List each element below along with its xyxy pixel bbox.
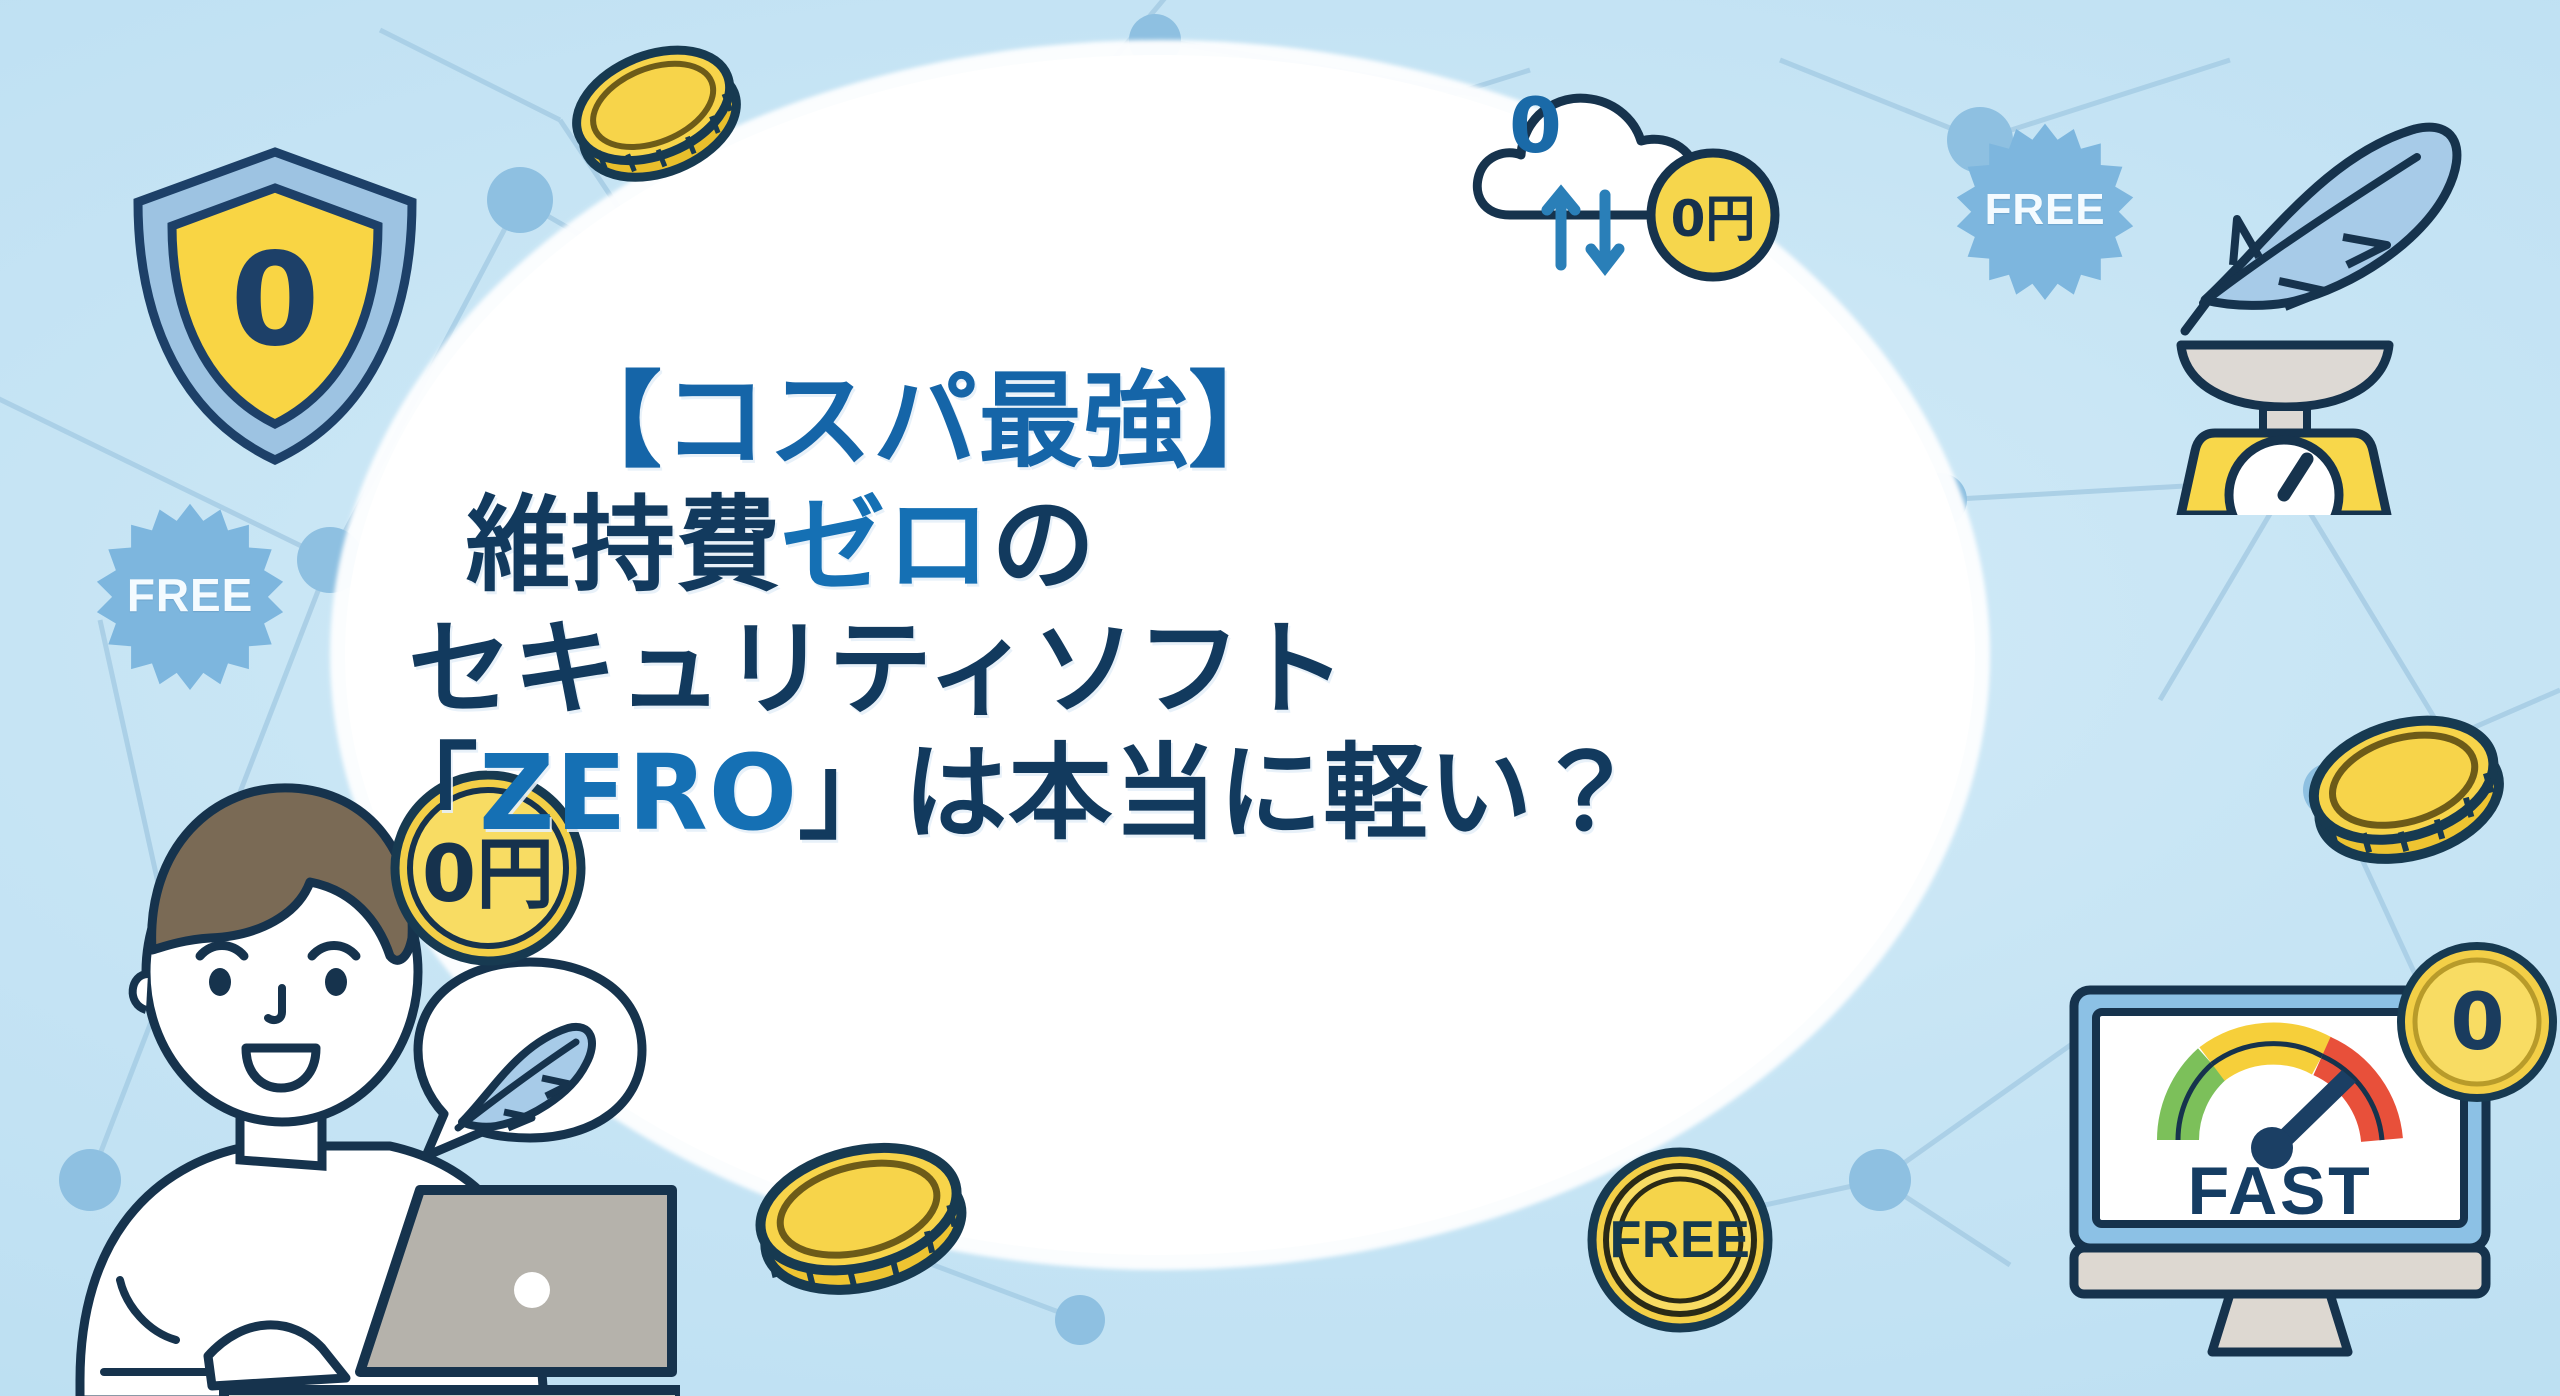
title-line-4-open: 「	[374, 732, 479, 854]
speech-bubble-feather-icon	[400, 950, 660, 1170]
free-coin: FREE	[1585, 1145, 1775, 1335]
title-line-4-accent: ZERO	[479, 732, 798, 854]
cloud-zero-icon: 0 0円	[1465, 55, 1805, 285]
monitor-coin-label: 0	[2395, 978, 2560, 1068]
free-starburst-left: FREE	[95, 500, 285, 690]
title-line-2-before: 維持費	[466, 484, 781, 606]
page-title: 【コスパ最強】 維持費ゼロの セキュリティソフト 「ZERO」は本当に軽い？	[600, 368, 2000, 846]
fast-gauge-label: FAST	[2060, 1152, 2500, 1230]
title-line-1: 【コスパ最強】	[558, 368, 2000, 474]
title-line-2: 維持費ゼロの	[466, 492, 2000, 598]
free-starburst-right-label: FREE	[1955, 185, 2135, 235]
free-starburst-left-label: FREE	[95, 568, 285, 622]
shield-zero-value: 0	[120, 226, 430, 375]
free-starburst-right: FREE	[1955, 120, 2135, 300]
cloud-zero-value: 0	[1509, 81, 1562, 170]
monitor-zero-coin: 0	[2395, 940, 2560, 1105]
title-line-2-after: の	[991, 484, 1096, 606]
feather-on-scale-icon	[2175, 95, 2495, 515]
cloud-coin-label: 0円	[1651, 179, 1775, 251]
free-coin-label: FREE	[1585, 1210, 1775, 1270]
title-line-4: 「ZERO」は本当に軽い？	[374, 740, 2000, 846]
title-line-4-close: 」は本当に軽い？	[798, 732, 1638, 854]
shield-zero-icon: 0	[120, 140, 430, 470]
title-line-2-accent: ゼロ	[781, 484, 991, 606]
banner-image: 0 FREE FREE	[0, 0, 2560, 1396]
title-line-3: セキュリティソフト	[408, 616, 2000, 722]
